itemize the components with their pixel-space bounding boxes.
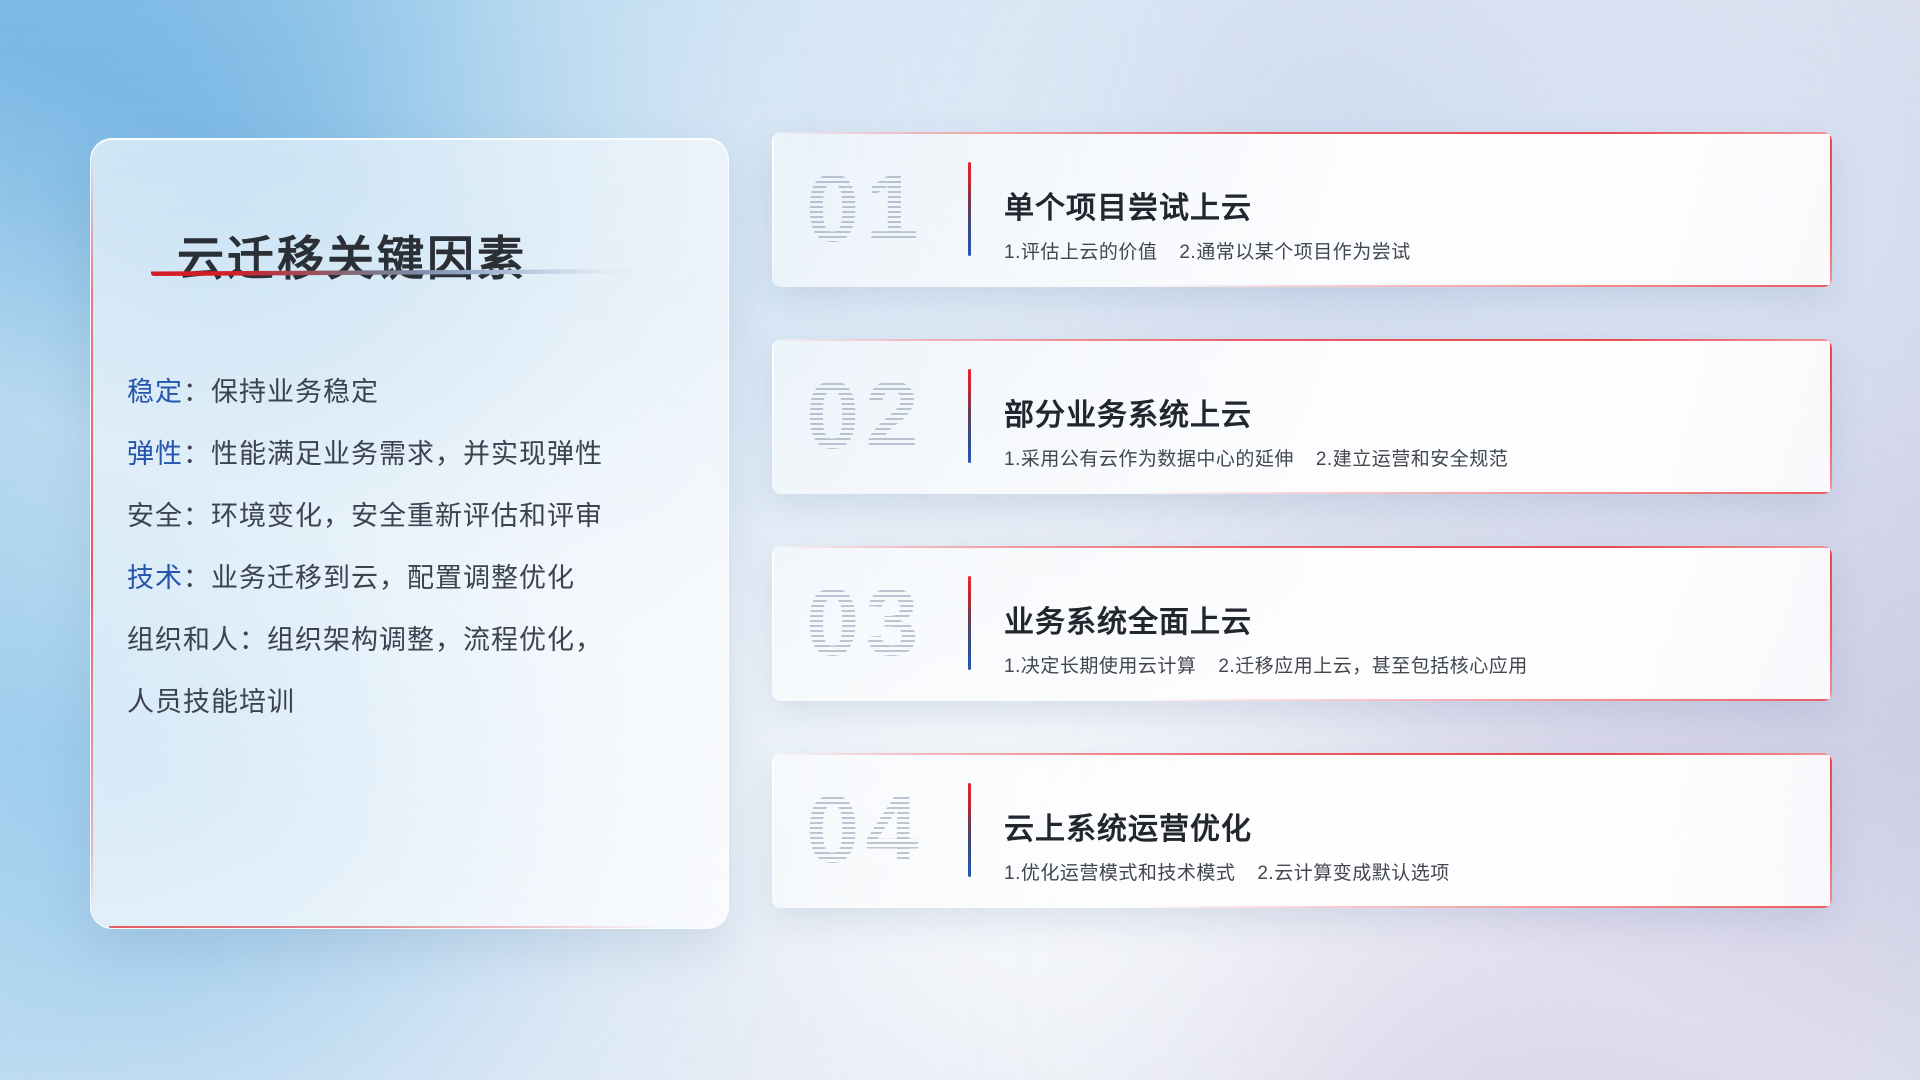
factor-separator: ： bbox=[183, 439, 211, 469]
factor-label: 技术 bbox=[127, 563, 183, 593]
list-item[interactable]: 02 部分业务系统上云 1.采用公有云作为数据中心的延伸2.建立运营和安全规范 bbox=[772, 339, 1832, 494]
card-point: 1.优化运营模式和技术模式 bbox=[1004, 863, 1235, 884]
card-left-edge bbox=[772, 339, 774, 494]
factor-label: 安全 bbox=[127, 501, 183, 531]
slide-stage: 云迁移关键因素 稳定：保持业务稳定 弹性：性能满足业务需求，并实现弹性 安全：环… bbox=[0, 0, 1920, 1080]
card-point: 1.决定长期使用云计算 bbox=[1004, 656, 1196, 677]
factor-separator: ： bbox=[183, 563, 211, 593]
card-right-accent bbox=[1830, 132, 1832, 287]
factor-value: 保持业务稳定 bbox=[211, 377, 379, 407]
factor-value: 业务迁移到云，配置调整优化 bbox=[211, 563, 575, 593]
list-item: 稳定：保持业务稳定 bbox=[127, 361, 702, 423]
card-subtitle: 1.优化运营模式和技术模式2.云计算变成默认选项 bbox=[1004, 858, 1450, 885]
card-point: 2.建立运营和安全规范 bbox=[1316, 449, 1508, 470]
factor-value: 组织架构调整，流程优化， bbox=[267, 625, 603, 655]
factor-separator: ： bbox=[239, 625, 267, 655]
list-item[interactable]: 04 云上系统运营优化 1.优化运营模式和技术模式2.云计算变成默认选项 bbox=[772, 753, 1832, 908]
factor-separator: ： bbox=[183, 377, 211, 407]
list-item: 组织和人：组织架构调整，流程优化， bbox=[127, 609, 702, 671]
card-divider-bar bbox=[968, 369, 971, 463]
stage-card-list: 01 单个项目尝试上云 1.评估上云的价值2.通常以某个项目作为尝试 02 部分… bbox=[772, 132, 1832, 960]
card-right-accent bbox=[1830, 339, 1832, 494]
card-subtitle: 1.评估上云的价值2.通常以某个项目作为尝试 bbox=[1004, 237, 1411, 264]
factor-list: 稳定：保持业务稳定 弹性：性能满足业务需求，并实现弹性 安全：环境变化，安全重新… bbox=[127, 361, 702, 733]
card-top-accent bbox=[772, 753, 1832, 755]
card-bottom-accent bbox=[1132, 285, 1832, 287]
card-right-accent bbox=[1830, 753, 1832, 908]
panel-bottom-accent-edge bbox=[109, 926, 668, 928]
card-title: 部分业务系统上云 bbox=[1004, 390, 1252, 434]
card-point: 2.迁移应用上云，甚至包括核心应用 bbox=[1218, 656, 1527, 677]
card-bottom-accent bbox=[1132, 699, 1832, 701]
list-item: 技术：业务迁移到云，配置调整优化 bbox=[127, 547, 702, 609]
card-divider-bar bbox=[968, 576, 971, 670]
card-divider-bar bbox=[968, 162, 971, 256]
card-title: 云上系统运营优化 bbox=[1004, 804, 1252, 848]
card-point: 1.评估上云的价值 bbox=[1004, 242, 1157, 263]
panel-left-accent-edge bbox=[91, 153, 93, 914]
card-right-accent bbox=[1830, 546, 1832, 701]
card-title: 业务系统全面上云 bbox=[1004, 597, 1252, 641]
card-number: 04 bbox=[806, 767, 925, 893]
card-subtitle: 1.采用公有云作为数据中心的延伸2.建立运营和安全规范 bbox=[1004, 444, 1508, 471]
card-left-edge bbox=[772, 546, 774, 701]
card-left-edge bbox=[772, 753, 774, 908]
card-top-accent bbox=[772, 546, 1832, 548]
factor-separator: ： bbox=[183, 501, 211, 531]
list-item: 人员技能培训 bbox=[127, 671, 702, 733]
card-bottom-accent bbox=[1132, 492, 1832, 494]
factor-value: 环境变化，安全重新评估和评审 bbox=[211, 501, 603, 531]
page-title: 云迁移关键因素 bbox=[177, 220, 527, 289]
card-bottom-accent bbox=[1132, 906, 1832, 908]
factor-value-continued: 人员技能培训 bbox=[127, 687, 295, 717]
list-item[interactable]: 01 单个项目尝试上云 1.评估上云的价值2.通常以某个项目作为尝试 bbox=[772, 132, 1832, 287]
card-left-edge bbox=[772, 132, 774, 287]
card-top-accent bbox=[772, 339, 1832, 341]
card-top-accent bbox=[772, 132, 1832, 134]
card-point: 1.采用公有云作为数据中心的延伸 bbox=[1004, 449, 1294, 470]
factor-value: 性能满足业务需求，并实现弹性 bbox=[211, 439, 603, 469]
factor-label: 稳定 bbox=[127, 377, 183, 407]
factor-label: 组织和人 bbox=[127, 625, 239, 655]
card-number: 03 bbox=[806, 560, 925, 686]
key-factors-panel: 云迁移关键因素 稳定：保持业务稳定 弹性：性能满足业务需求，并实现弹性 安全：环… bbox=[90, 138, 729, 929]
factor-label: 弹性 bbox=[127, 439, 183, 469]
card-subtitle: 1.决定长期使用云计算2.迁移应用上云，甚至包括核心应用 bbox=[1004, 651, 1528, 678]
card-number: 02 bbox=[806, 353, 925, 479]
list-item: 弹性：性能满足业务需求，并实现弹性 bbox=[127, 423, 702, 485]
card-number: 01 bbox=[806, 146, 925, 272]
card-title: 单个项目尝试上云 bbox=[1004, 183, 1252, 227]
card-point: 2.云计算变成默认选项 bbox=[1257, 863, 1449, 884]
card-point: 2.通常以某个项目作为尝试 bbox=[1179, 242, 1410, 263]
list-item[interactable]: 03 业务系统全面上云 1.决定长期使用云计算2.迁移应用上云，甚至包括核心应用 bbox=[772, 546, 1832, 701]
card-divider-bar bbox=[968, 783, 971, 877]
list-item: 安全：环境变化，安全重新评估和评审 bbox=[127, 485, 702, 547]
